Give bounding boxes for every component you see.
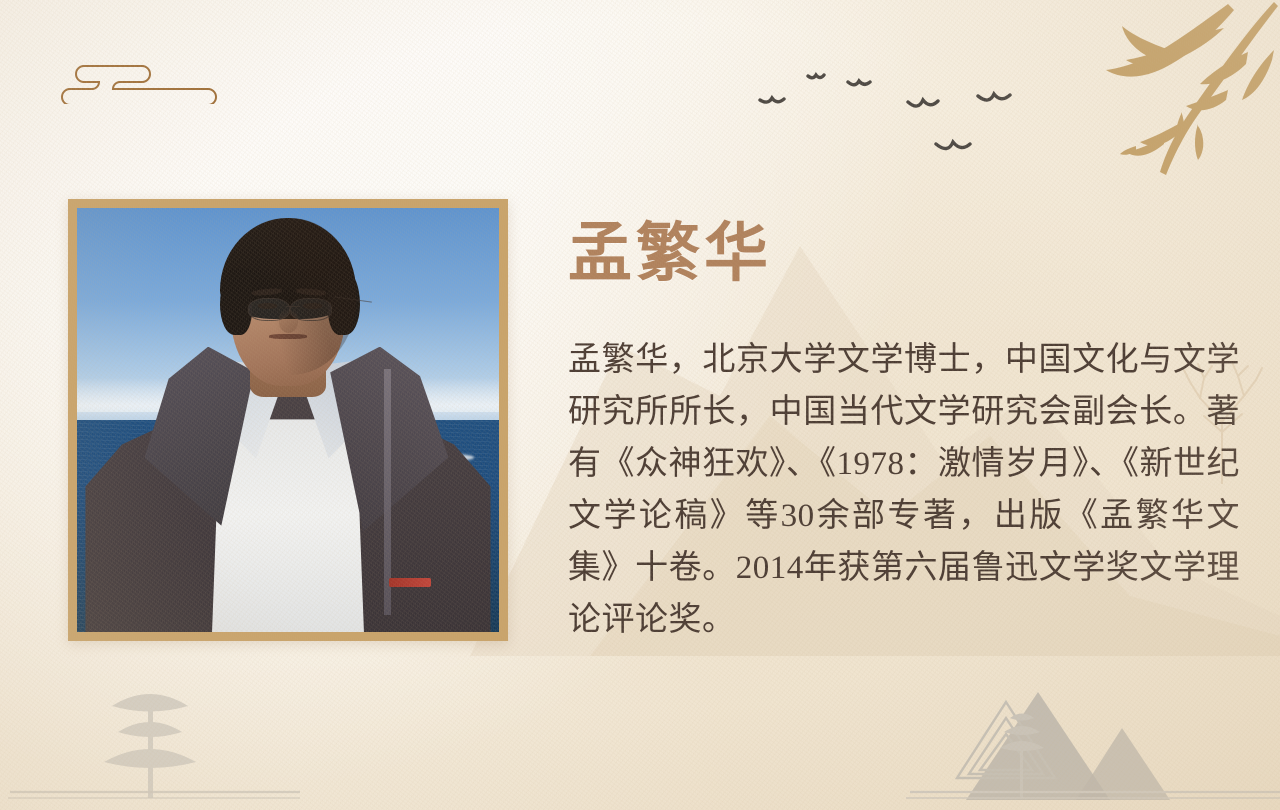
bottom-landscape-decoration bbox=[0, 640, 1280, 810]
subject-chest-badge bbox=[389, 578, 431, 587]
page-title: 孟繁华 bbox=[568, 221, 772, 285]
photo-subject bbox=[77, 352, 499, 632]
birds-flock-icon bbox=[750, 58, 1040, 173]
cloud-motif-icon bbox=[48, 52, 228, 109]
bamboo-branch-icon bbox=[1078, 0, 1280, 214]
slide-root: 孟繁华 孟繁华，北京大学文学博士，中国文化与文学研究所所长，中国当代文学研究会副… bbox=[0, 0, 1280, 810]
profile-bio: 孟繁华，北京大学文学博士，中国文化与文学研究所所长，中国当代文学研究会副会长。著… bbox=[568, 334, 1240, 646]
pine-tree-left-icon bbox=[104, 694, 196, 798]
portrait-photo bbox=[77, 208, 499, 632]
portrait-photo-frame bbox=[68, 199, 508, 641]
subject-face-shadow bbox=[220, 218, 355, 375]
